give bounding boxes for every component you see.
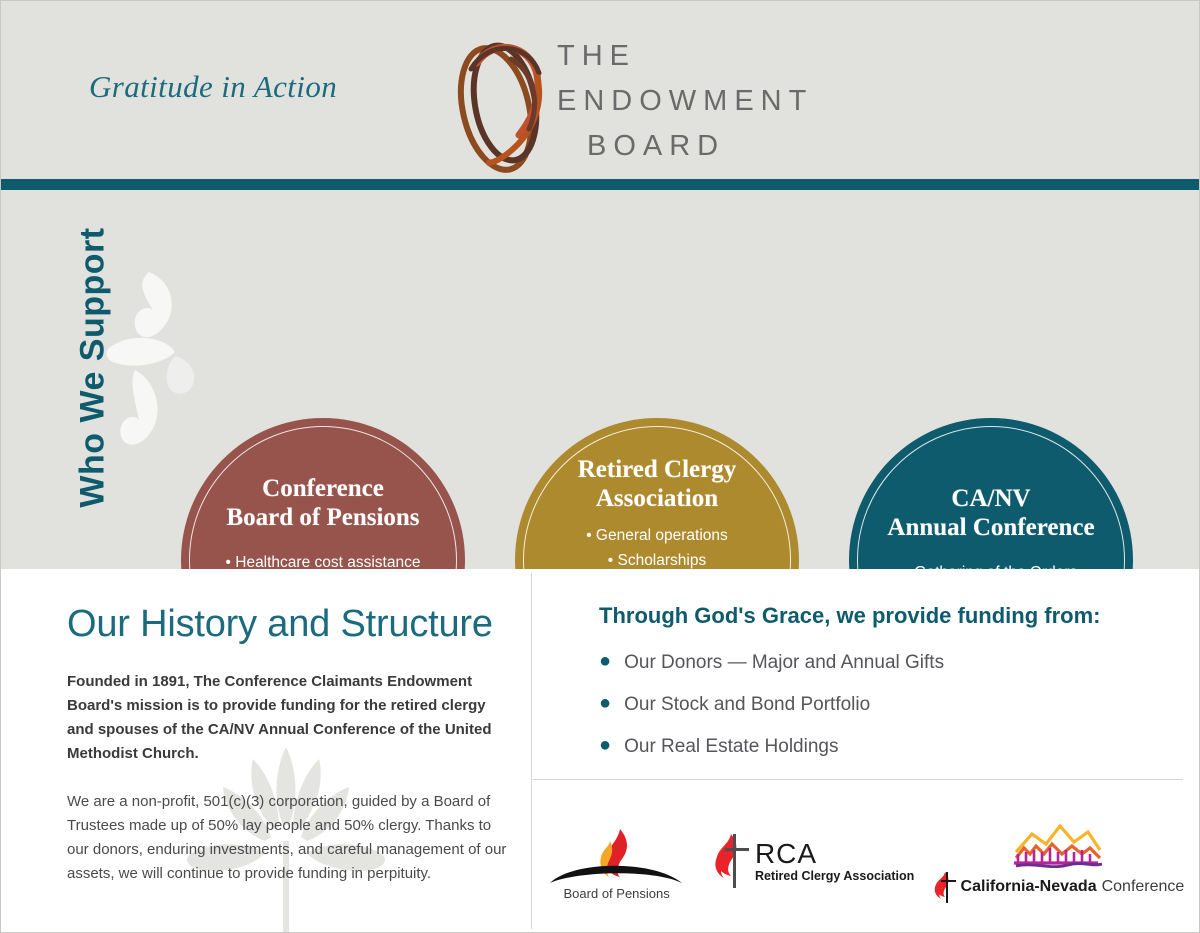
circle-title-line-2: Board of Pensions [226,503,419,532]
circle-item-list: • General operations • Scholarships • Tr… [538,521,777,570]
canv-skyline-icon [1010,818,1106,868]
partner-label-bold: California-Nevada [961,878,1097,896]
who-we-support-section: Who We Support Conference Board of Pensi… [1,190,1200,569]
history-title: Our History and Structure [67,603,507,646]
partner-acronym: RCA [755,839,914,869]
partner-label-light: Conference [1102,878,1185,896]
logo-wordmark: THE ENDOWMENT BOARD [557,34,813,169]
circle-title-line-1: Conference [226,474,419,503]
funding-sources-block: Through God's Grace, we provide funding … [599,603,1159,777]
support-circle-retired-clergy-association: Retired Clergy Association • General ope… [515,418,799,569]
partner-board-of-pensions: Board of Pensions [542,821,692,901]
bullet-icon: ● [599,735,611,755]
history-paragraph-bold: Founded in 1891, The Conference Claimant… [67,670,507,766]
infographic-page: Gratitude in Action THE ENDOWMENT BOARD … [0,0,1200,933]
logo-wordmark-line-1: THE [557,34,813,79]
circle-title-line-1: Retired Clergy [578,455,737,484]
circle-title-line-2: Annual Conference [887,513,1094,542]
funding-list-item: ● Our Donors — Major and Annual Gifts [599,651,1159,675]
circle-title: CA/NV Annual Conference [887,484,1094,542]
partner-retired-clergy-association: RCA Retired Clergy Association [709,830,914,892]
tagline: Gratitude in Action [89,69,337,105]
circle-title-line-1: CA/NV [887,484,1094,513]
logo-wordmark-line-3: BOARD [557,124,813,169]
funding-item-label: Our Real Estate Holdings [624,735,838,759]
partner-logos-row: Board of Pensions RCA Retired Clergy Ass… [533,791,1193,931]
circle-title: Retired Clergy Association [578,455,737,513]
funding-item-label: Our Stock and Bond Portfolio [624,693,870,717]
partner-label: Board of Pensions [542,886,692,901]
header-divider-rule [1,179,1200,190]
history-and-structure-block: Our History and Structure Founded in 189… [67,603,507,886]
section-title-who-we-support: Who We Support [74,218,113,518]
umc-cross-and-flame-icon [932,870,958,904]
circle-item-list: • Healthcare cost assistance • Healthcar… [204,546,443,570]
circle-list-item: • General operations [538,526,777,546]
bullet-icon: ● [599,651,611,671]
umc-cross-and-flame-icon [709,830,751,892]
endowment-board-rings-logo-icon [449,23,559,178]
partners-divider [533,779,1183,780]
lower-content-section: Our History and Structure Founded in 189… [1,569,1200,933]
header-banner: Gratitude in Action THE ENDOWMENT BOARD [1,1,1200,179]
partner-label: Retired Clergy Association [755,869,914,883]
funding-item-label: Our Donors — Major and Annual Gifts [624,651,944,675]
circle-title-line-2: Association [578,484,737,513]
circle-title: Conference Board of Pensions [226,474,419,532]
support-circle-conference-board-of-pensions: Conference Board of Pensions • Healthcar… [181,418,465,569]
circle-item-list: • Gathering of the Orders sponsorship • … [872,556,1111,570]
circle-list-item: • Scholarships [538,551,777,570]
funding-title: Through God's Grace, we provide funding … [599,603,1159,629]
funding-list-item: ● Our Real Estate Holdings [599,735,1159,759]
support-circle-canv-annual-conference: CA/NV Annual Conference • Gathering of t… [849,418,1133,569]
funding-list-item: ● Our Stock and Bond Portfolio [599,693,1159,717]
logo-wordmark-line-2: ENDOWMENT [557,79,813,124]
circle-list-item: • Healthcare cost assistance [204,553,443,570]
bullet-icon: ● [599,693,611,713]
column-divider [531,573,532,929]
history-paragraph-body: We are a non-profit, 501(c)(3) corporati… [67,790,507,886]
partner-california-nevada-conference: California-Nevada Conference [932,818,1185,904]
